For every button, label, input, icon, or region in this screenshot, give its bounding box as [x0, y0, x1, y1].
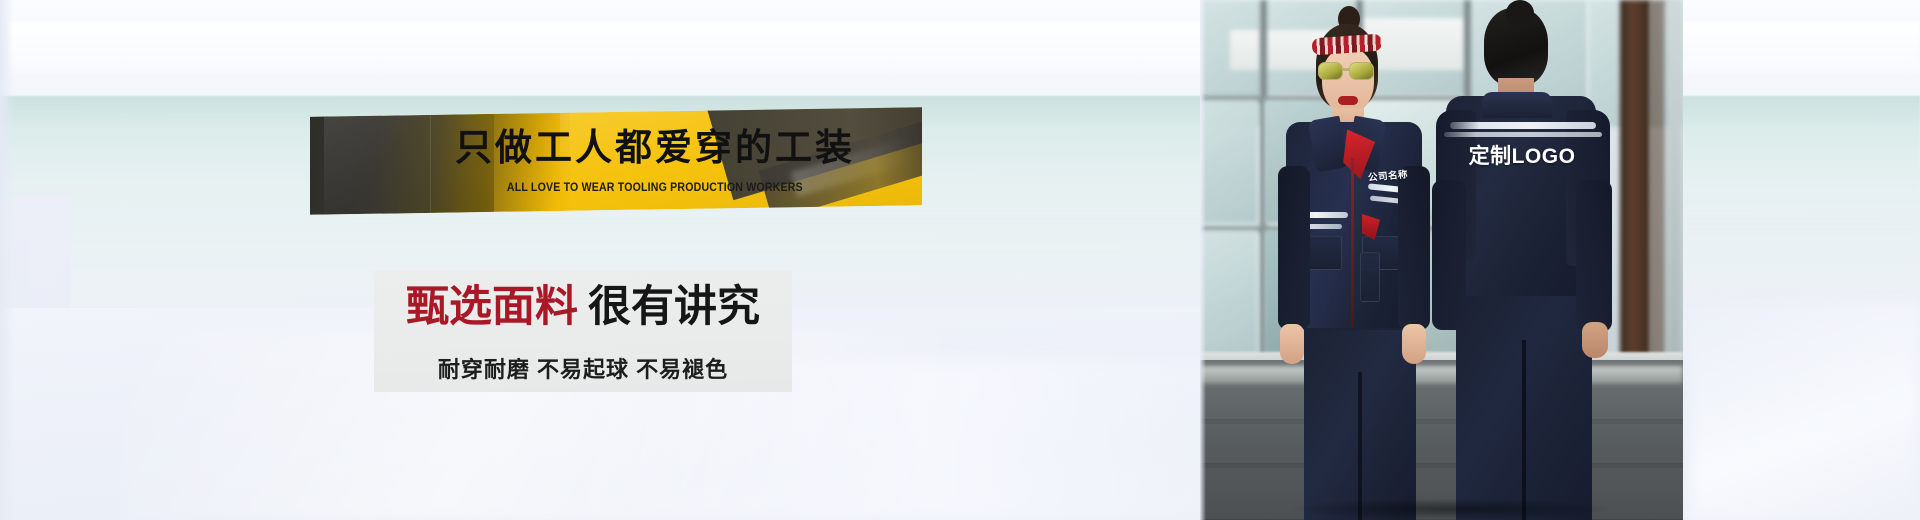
- uniform-product-photo: 定制LOGO 公司名称: [1200, 0, 1683, 520]
- man-sleeve-left: [1432, 180, 1466, 330]
- photo-wall-right: [1666, 0, 1683, 372]
- woman-lips: [1338, 96, 1358, 105]
- photo-ground-shadow: [1286, 498, 1616, 520]
- man-sleeve-right: [1576, 180, 1612, 332]
- photo-glass-pane: [1200, 100, 1258, 224]
- woman-sunglasses: [1318, 62, 1378, 80]
- photo-left-feather: [1200, 0, 1206, 520]
- photo-step-edge: [1200, 366, 1683, 384]
- background-notch-soft: [30, 196, 72, 308]
- woman-side-pocket: [1360, 252, 1380, 302]
- sunglasses-lens-left: [1318, 62, 1343, 80]
- man-back-logo-text: 定制LOGO: [1452, 140, 1592, 170]
- woman-hand-right: [1402, 324, 1426, 364]
- woman-jacket-zipper: [1351, 158, 1354, 328]
- fabric-headline: 甄选面料很有讲究: [374, 285, 792, 330]
- banner-stage: 只做工人都爱穿的工装 ALL LOVE TO WEAR TOOLING PROD…: [0, 0, 1920, 520]
- woman-sleeve-left: [1278, 166, 1310, 330]
- man-reflective-stripe: [1444, 132, 1602, 137]
- banner-title: 只做工人都爱穿的工装: [455, 129, 855, 166]
- woman-hand-left: [1280, 324, 1304, 364]
- photo-glass-pane: [1200, 230, 1258, 356]
- photo-door-frame: [1620, 0, 1650, 372]
- photo-ground-tile: [1200, 424, 1683, 464]
- banner-text-group: 只做工人都爱穿的工装 ALL LOVE TO WEAR TOOLING PROD…: [310, 112, 922, 210]
- man-leg-seam: [1522, 340, 1526, 520]
- man-hair-bun: [1506, 0, 1534, 26]
- fabric-subline: 耐穿耐磨 不易起球 不易褪色: [374, 352, 792, 384]
- fabric-headline-red: 甄选面料: [406, 283, 578, 331]
- man-hand: [1582, 322, 1608, 358]
- sunglasses-lens-right: [1349, 62, 1374, 80]
- banner-subtitle: ALL LOVE TO WEAR TOOLING PRODUCTION WORK…: [507, 182, 803, 194]
- background-left-edge: [0, 0, 14, 520]
- photo-ground-tile: [1200, 386, 1683, 420]
- man-reflective-stripe: [1450, 122, 1596, 129]
- man-jacket-collar: [1482, 92, 1552, 118]
- photo-door-frame-edge: [1650, 0, 1666, 372]
- fabric-headline-dark: 很有讲究: [588, 283, 760, 331]
- background-diagonal-highlight-c: [1690, 300, 1920, 520]
- woman-sleeve-right: [1398, 166, 1430, 330]
- yellow-headline-banner: 只做工人都爱穿的工装 ALL LOVE TO WEAR TOOLING PROD…: [310, 107, 922, 215]
